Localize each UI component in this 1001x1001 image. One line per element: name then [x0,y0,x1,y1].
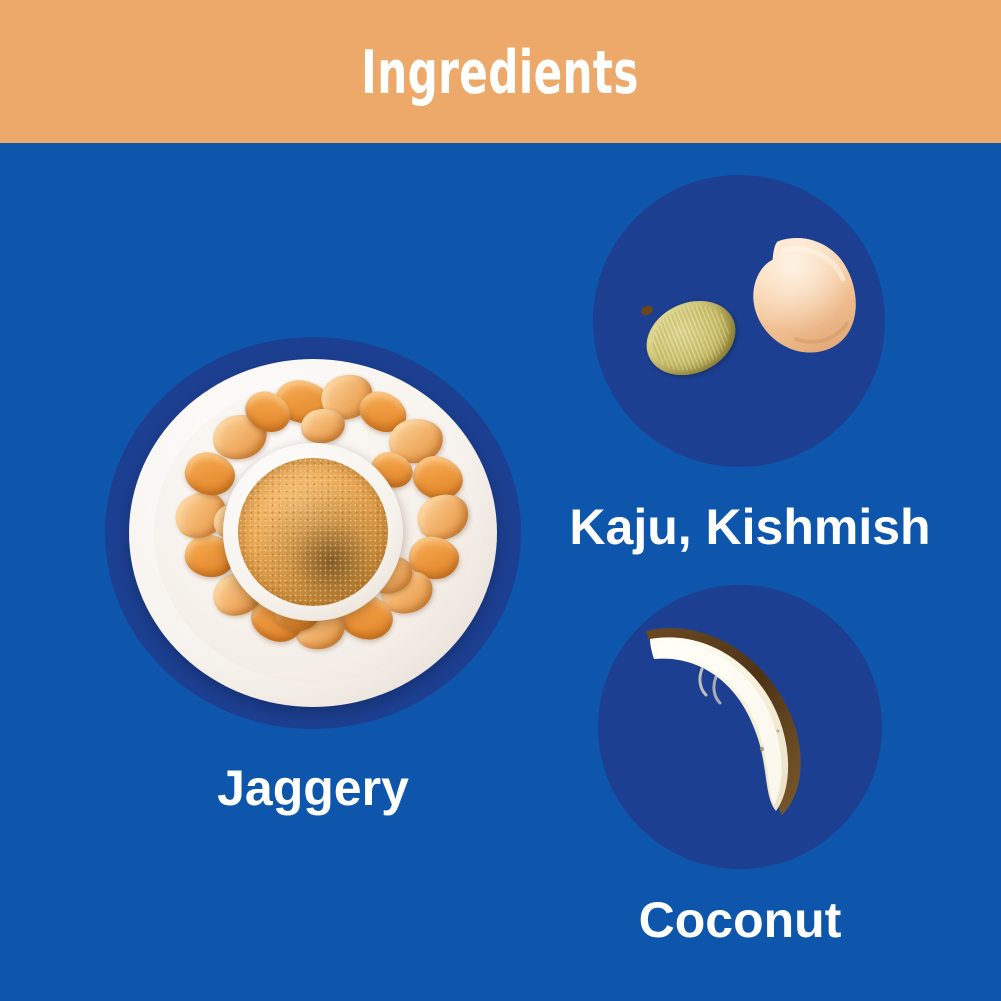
jaggery-plate-photo [125,345,501,721]
ingredient-label-jaggery: Jaggery [105,763,521,813]
jaggery-powder-bowl [223,443,403,621]
ingredient-label-coconut: Coconut [598,895,882,945]
cashew-raisin-photo [593,175,885,467]
coconut-slice-photo [632,609,832,821]
ingredients-poster: Ingredients [0,0,1001,1001]
header-band: Ingredients [0,0,1001,143]
kaju-kishmish-photo-circle [593,175,885,467]
page-title: Ingredients [362,43,640,103]
jaggery-photo-circle [105,337,521,729]
raisin-stem [640,304,655,317]
cashew-kaju [724,226,874,367]
ingredient-label-kaju-kishmish: Kaju, Kishmish [540,502,960,552]
jaggery-powder [238,458,388,606]
jaggery-powder-texture [238,458,388,606]
coconut-photo-circle [598,585,882,869]
